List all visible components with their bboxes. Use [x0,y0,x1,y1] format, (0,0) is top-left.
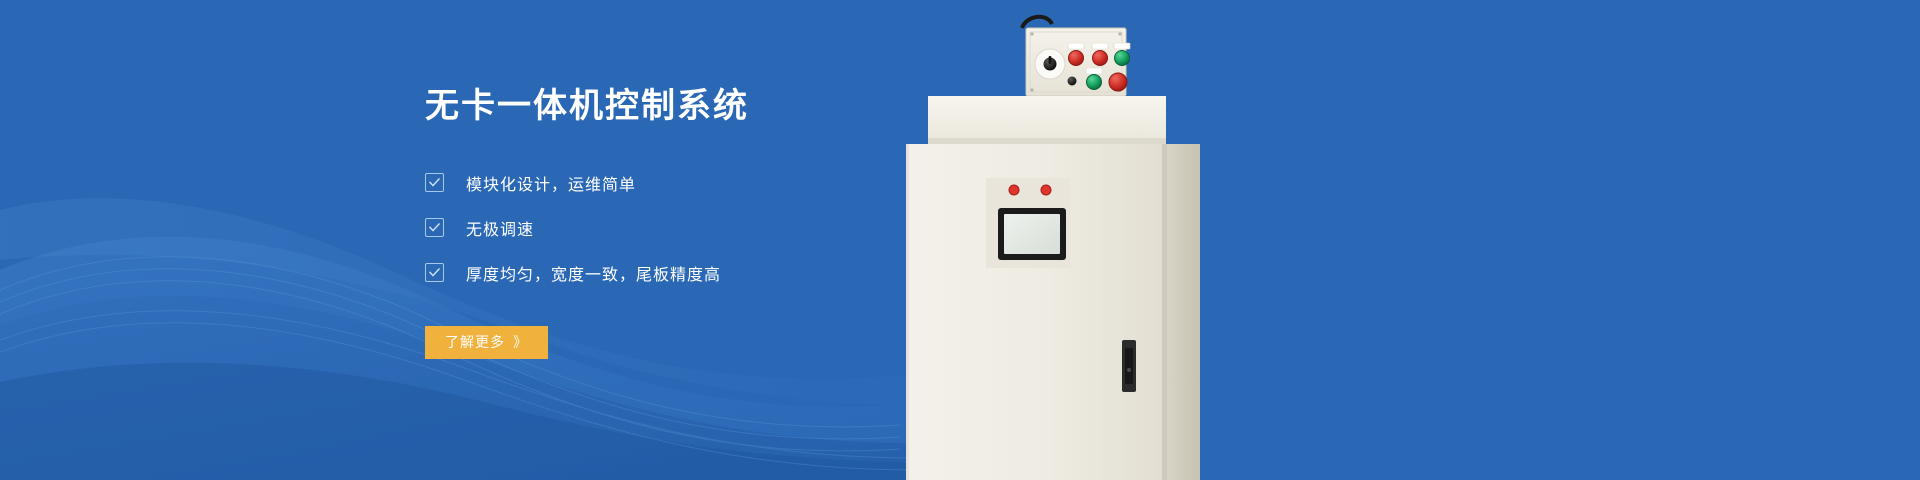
feature-label: 模块化设计，运维简单 [466,171,636,195]
check-square-icon [425,173,444,192]
hero-banner: 无卡一体机控制系统 模块化设计，运维简单 无极调速 [0,0,1920,480]
feature-label: 厚度均匀，宽度一致，尾板精度高 [466,261,721,285]
check-square-icon [425,218,444,237]
learn-more-button[interactable]: 了解更多 》 [425,326,548,359]
hmi-touchscreen [998,208,1066,260]
page-title: 无卡一体机控制系统 [425,86,985,127]
chevron-right-icon: 》 [513,332,528,352]
check-square-icon [425,263,444,282]
list-item: 无极调速 [425,216,985,240]
list-item: 模块化设计，运维简单 [425,171,985,195]
learn-more-label: 了解更多 [445,332,505,352]
feature-label: 无极调速 [466,216,534,240]
control-panel-box [1022,17,1130,96]
hero-content: 无卡一体机控制系统 模块化设计，运维简单 无极调速 [425,86,985,359]
machine-photo [900,0,1920,480]
list-item: 厚度均匀，宽度一致，尾板精度高 [425,261,985,285]
feature-list: 模块化设计，运维简单 无极调速 厚度均匀，宽度一致，尾板精度高 [425,171,985,285]
